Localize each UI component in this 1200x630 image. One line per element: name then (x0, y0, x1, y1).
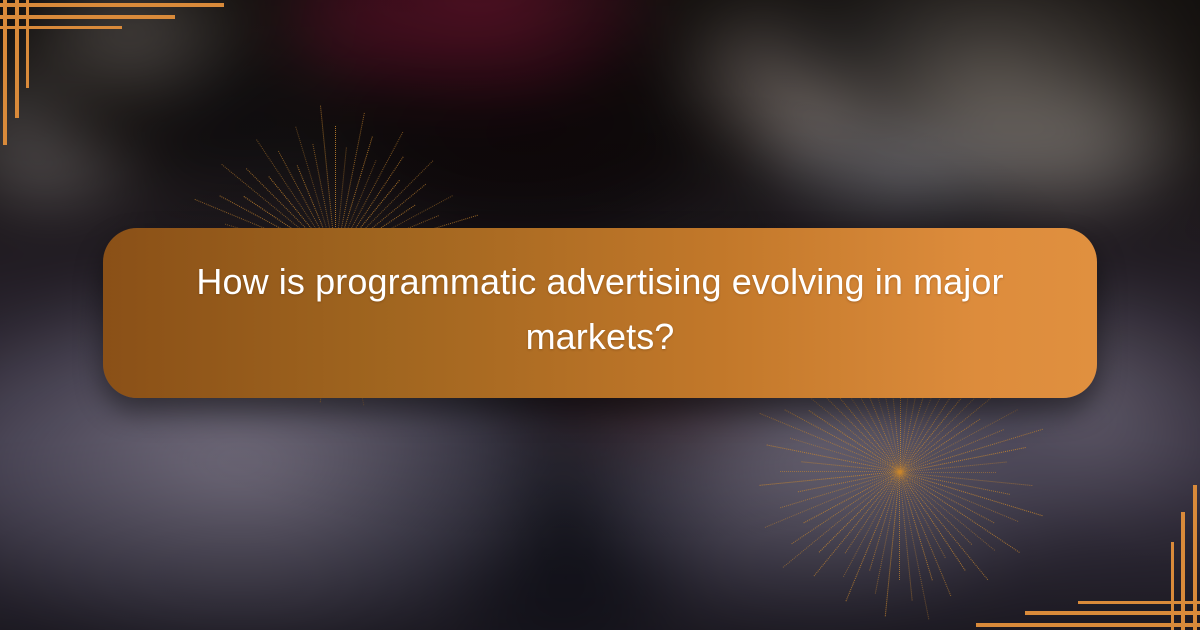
headline-text: How is programmatic advertising evolving… (161, 255, 1039, 364)
headline-card: How is programmatic advertising evolving… (103, 228, 1097, 398)
social-card-canvas: How is programmatic advertising evolving… (0, 0, 1200, 630)
